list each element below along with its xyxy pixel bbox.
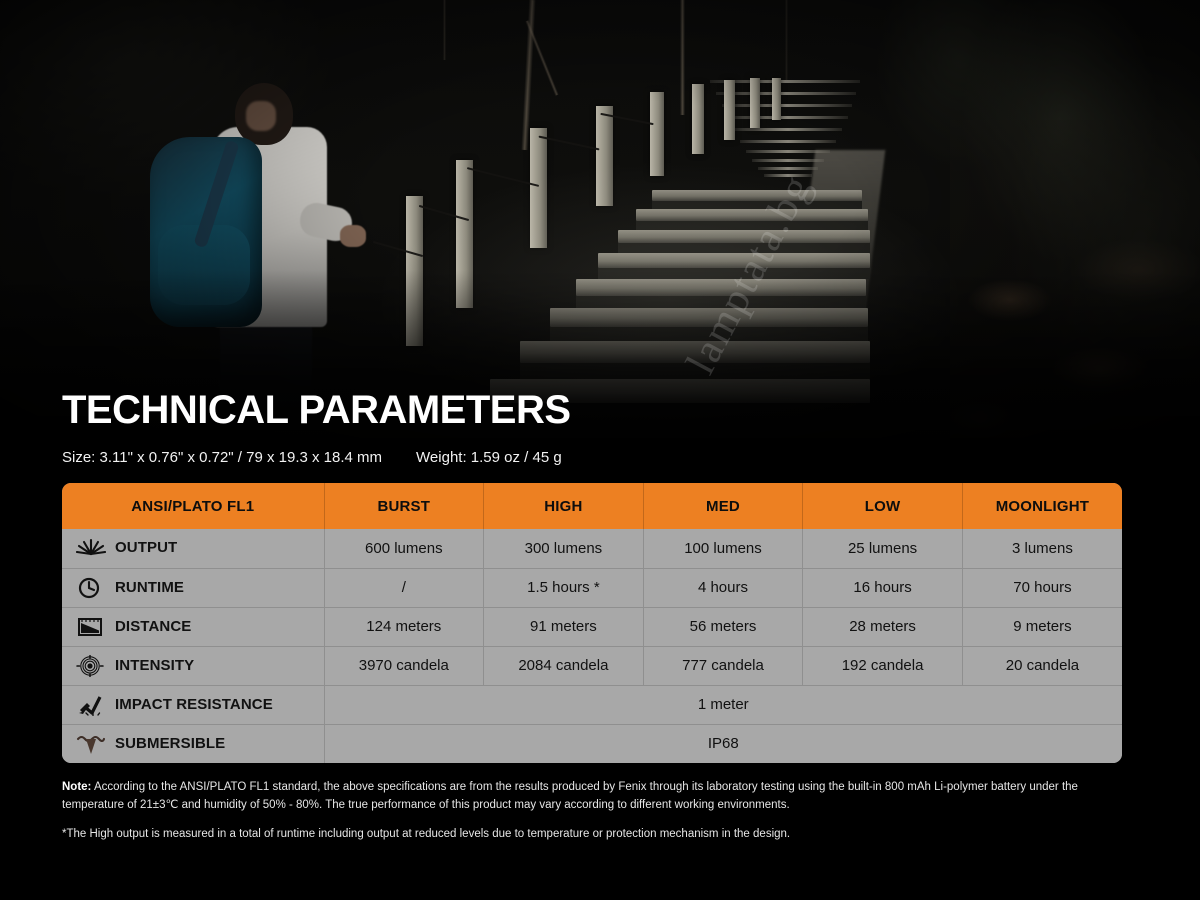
weight-spec: Weight: 1.59 oz / 45 g <box>416 449 562 466</box>
cell-runtime-med: 4 hours <box>643 568 803 607</box>
row-label-output: OUTPUT <box>62 529 324 568</box>
cell-intensity-med: 777 candela <box>643 646 803 685</box>
table-row: DISTANCE 124 meters 91 meters 56 meters … <box>62 607 1122 646</box>
row-label-distance: DISTANCE <box>62 607 324 646</box>
sunburst-icon <box>76 537 106 559</box>
cell-intensity-moonlight: 20 candela <box>962 646 1122 685</box>
cell-runtime-burst: / <box>324 568 484 607</box>
cell-intensity-low: 192 candela <box>803 646 963 685</box>
beam-distance-icon <box>76 616 106 638</box>
cell-intensity-burst: 3970 candela <box>324 646 484 685</box>
cell-distance-high: 91 meters <box>484 607 644 646</box>
row-label-runtime: RUNTIME <box>62 568 324 607</box>
cell-runtime-low: 16 hours <box>803 568 963 607</box>
note-body: According to the ANSI/PLATO FL1 standard… <box>62 781 1078 811</box>
spec-summary: Size: 3.11" x 0.76" x 0.72" / 79 x 19.3 … <box>62 449 562 466</box>
column-header-standard: ANSI/PLATO FL1 <box>62 483 324 529</box>
table-row: SUBMERSIBLE IP68 <box>62 724 1122 763</box>
cell-distance-low: 28 meters <box>803 607 963 646</box>
footnotes: Note: According to the ANSI/PLATO FL1 st… <box>62 779 1122 843</box>
water-drop-icon <box>76 733 106 755</box>
column-header-moonlight: MOONLIGHT <box>962 483 1122 529</box>
note-label: Note: <box>62 781 91 793</box>
table-row: RUNTIME / 1.5 hours * 4 hours 16 hours 7… <box>62 568 1122 607</box>
column-header-burst: BURST <box>324 483 484 529</box>
cell-intensity-high: 2084 candela <box>484 646 644 685</box>
cell-submersible-all: IP68 <box>324 724 1122 763</box>
cell-runtime-moonlight: 70 hours <box>962 568 1122 607</box>
column-header-high: HIGH <box>484 483 644 529</box>
cell-output-moonlight: 3 lumens <box>962 529 1122 568</box>
cell-output-med: 100 lumens <box>643 529 803 568</box>
cell-output-high: 300 lumens <box>484 529 644 568</box>
cell-distance-med: 56 meters <box>643 607 803 646</box>
size-spec: Size: 3.11" x 0.76" x 0.72" / 79 x 19.3 … <box>62 449 382 466</box>
cell-impact-resistance-all: 1 meter <box>324 685 1122 724</box>
impact-arrow-icon <box>76 694 106 716</box>
row-label-intensity: INTENSITY <box>62 646 324 685</box>
cell-output-burst: 600 lumens <box>324 529 484 568</box>
page-title: TECHNICAL PARAMETERS <box>62 388 571 433</box>
clock-icon <box>76 577 106 599</box>
table-row: INTENSITY 3970 candela 2084 candela 777 … <box>62 646 1122 685</box>
cell-distance-burst: 124 meters <box>324 607 484 646</box>
table-header-row: ANSI/PLATO FL1 BURST HIGH MED LOW MOONLI… <box>62 483 1122 529</box>
row-label-submersible: SUBMERSIBLE <box>62 724 324 763</box>
row-label-impact-resistance: IMPACT RESISTANCE <box>62 685 324 724</box>
cell-distance-moonlight: 9 meters <box>962 607 1122 646</box>
cell-output-low: 25 lumens <box>803 529 963 568</box>
technical-parameters-table: ANSI/PLATO FL1 BURST HIGH MED LOW MOONLI… <box>62 483 1122 763</box>
note-primary: Note: According to the ANSI/PLATO FL1 st… <box>62 779 1122 815</box>
table-row: OUTPUT 600 lumens 300 lumens 100 lumens … <box>62 529 1122 568</box>
column-header-med: MED <box>643 483 803 529</box>
photo-bottom-fade <box>0 270 1200 470</box>
column-header-low: LOW <box>803 483 963 529</box>
note-secondary: *The High output is measured in a total … <box>62 826 1122 844</box>
table-row: IMPACT RESISTANCE 1 meter <box>62 685 1122 724</box>
cell-runtime-high: 1.5 hours * <box>484 568 644 607</box>
target-intensity-icon <box>76 655 106 677</box>
